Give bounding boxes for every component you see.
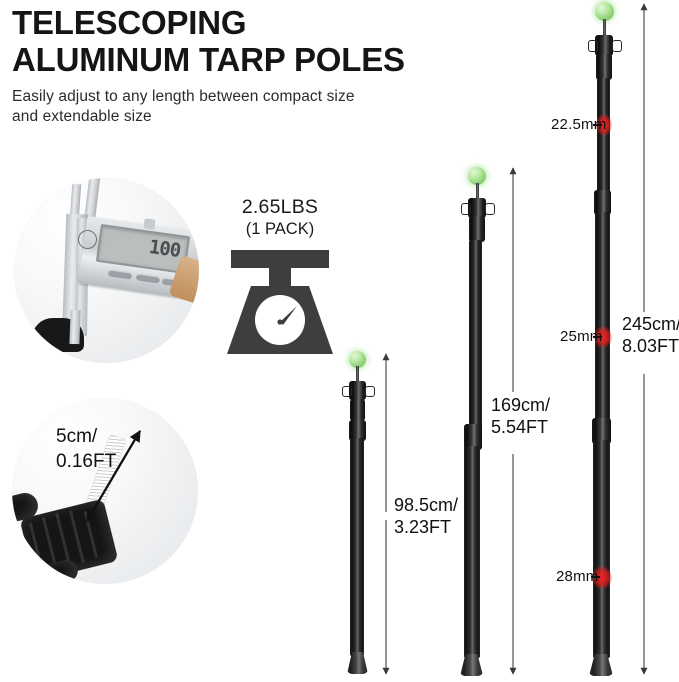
- diameter-leader-top: [593, 124, 602, 126]
- clamp-ear-left: [461, 203, 471, 215]
- short-pole-length-label: 98.5cm/ 3.23FT: [394, 494, 458, 538]
- kitchen-scale-icon: [215, 250, 345, 360]
- medium-pole-length-label: 169cm/ 5.54FT: [491, 394, 550, 438]
- diameter-leader-bottom: [591, 576, 600, 578]
- pole-joint-1: [350, 399, 365, 421]
- caliper-thumb-knob[interactable]: [143, 218, 155, 229]
- caliper-reading: 100: [148, 236, 182, 262]
- pole-shaft-middle: [595, 212, 610, 424]
- pole-shaft-lower: [464, 446, 480, 658]
- pole-joint-1: [596, 54, 612, 80]
- caliper-photo-inset: 100: [14, 178, 199, 363]
- subtitle-line-1: Easily adjust to any length between comp…: [12, 88, 355, 105]
- subtitle-line-2: and extendable size: [12, 108, 152, 125]
- diameter-leader-middle: [593, 336, 602, 338]
- pole-foot: [460, 654, 483, 676]
- title-line-2: ALUMINUM TARP POLES: [12, 41, 405, 78]
- clamp-ear-left: [588, 40, 598, 52]
- clamp-ear-left: [342, 386, 352, 397]
- tall-pole-length-label: 245cm/ 8.03FT: [622, 313, 679, 357]
- medium-pole-length-cm: 169cm/: [491, 395, 550, 415]
- pole-shaft-upper: [469, 240, 482, 430]
- tall-pole-length-cm: 245cm/: [622, 314, 679, 334]
- subtitle: Easily adjust to any length between comp…: [12, 87, 482, 127]
- short-pole-length-cm: 98.5cm/: [394, 495, 458, 515]
- infographic-canvas: TELESCOPING ALUMINUM TARP POLES Easily a…: [0, 0, 679, 682]
- rod-length-line-1: 5cm/: [56, 426, 97, 447]
- pole-joint-1: [469, 216, 485, 242]
- pole-shaft-top: [597, 78, 610, 196]
- rod-length-caption: 5cm/ 0.16FT: [56, 424, 116, 474]
- weight-block: 2.65LBS (1 PACK): [205, 196, 355, 239]
- caliper-lower-jaw: [69, 310, 80, 344]
- clamp-ear-right: [485, 203, 495, 215]
- rod-length-line-2: 0.16FT: [56, 451, 116, 472]
- weight-pack-count: (1 PACK): [205, 219, 355, 239]
- clamp-ear-right: [612, 40, 622, 52]
- weight-value: 2.65LBS: [205, 196, 355, 219]
- rod-photo-inset: 5cm/ 0.16FT: [12, 398, 198, 584]
- pole-shaft: [350, 438, 364, 656]
- medium-pole-length-ft: 5.54FT: [491, 417, 548, 437]
- clamp-ear-right: [365, 386, 375, 397]
- page-title: TELESCOPING ALUMINUM TARP POLES: [12, 4, 482, 78]
- tall-pole-length-ft: 8.03FT: [622, 336, 679, 356]
- pole-shaft-bottom: [593, 440, 610, 658]
- short-pole-length-ft: 3.23FT: [394, 517, 451, 537]
- title-line-1: TELESCOPING: [12, 4, 246, 41]
- headline-block: TELESCOPING ALUMINUM TARP POLES Easily a…: [12, 4, 482, 127]
